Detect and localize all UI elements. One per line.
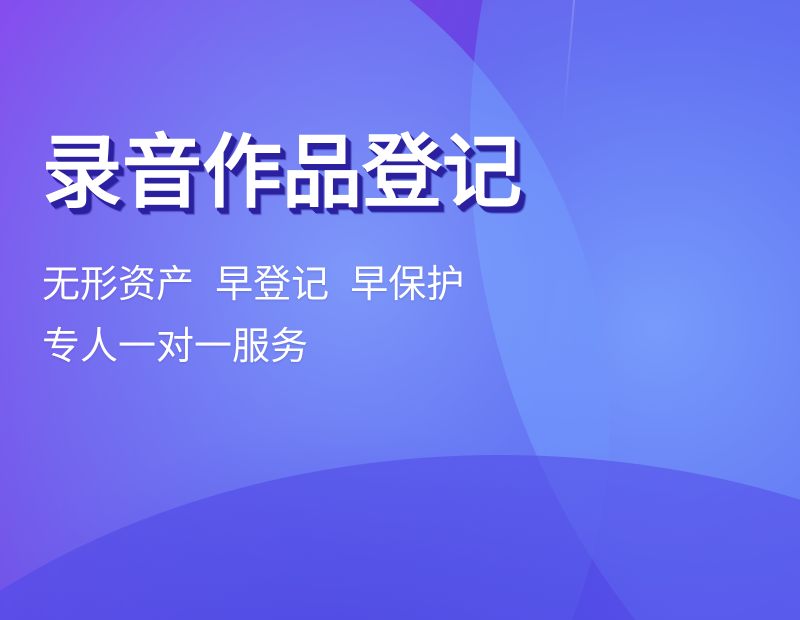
promo-banner: 录音作品登记 无形资产 早登记 早保护 专人一对一服务	[0, 0, 800, 620]
banner-subtitle-line-1: 无形资产 早登记 早保护	[42, 262, 464, 308]
banner-subtitle-line-2: 专人一对一服务	[42, 324, 308, 370]
banner-headline: 录音作品登记	[42, 126, 522, 220]
banner-content: 录音作品登记 无形资产 早登记 早保护 专人一对一服务	[42, 0, 742, 620]
